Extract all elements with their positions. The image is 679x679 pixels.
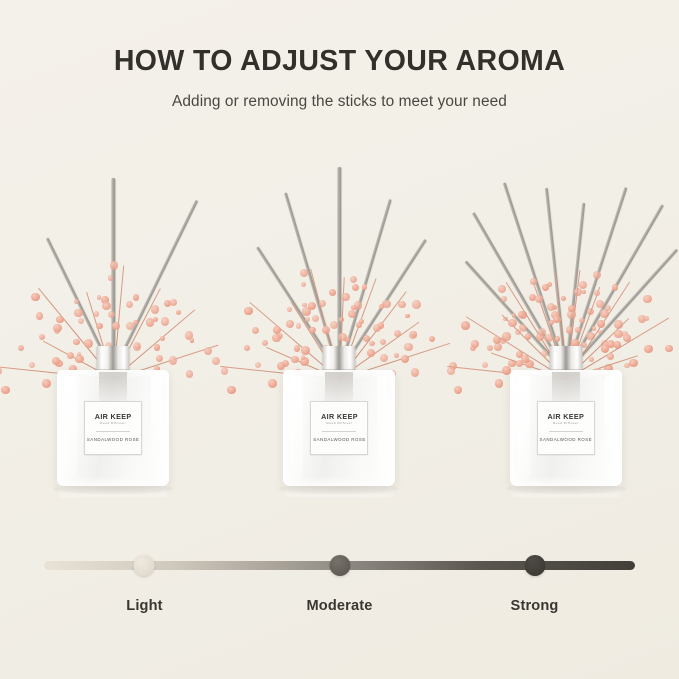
flower-bloom bbox=[255, 362, 261, 368]
flower-bloom bbox=[262, 340, 268, 346]
flower-bloom bbox=[553, 316, 560, 323]
diffuser-bottle-moderate: AIR KEEP Reed Diffuser SANDALWOOD ROSE bbox=[283, 370, 395, 486]
slider-label-strong: Strong bbox=[511, 598, 559, 614]
flower-bloom bbox=[56, 316, 64, 324]
flower-bloom bbox=[494, 343, 502, 351]
flower-bloom bbox=[133, 342, 142, 351]
flower-bloom bbox=[429, 336, 435, 342]
flower-bloom bbox=[291, 356, 299, 364]
flower-bloom bbox=[508, 319, 517, 328]
flower-bloom bbox=[379, 304, 384, 309]
flower-bloom bbox=[518, 311, 525, 318]
flower-bloom bbox=[273, 326, 281, 334]
slider-knob-light[interactable] bbox=[134, 555, 155, 576]
product-light: AIR KEEP Reed Diffuser SANDALWOOD ROSE bbox=[6, 150, 221, 520]
flower-bloom bbox=[29, 362, 35, 368]
flower-bloom bbox=[300, 269, 308, 277]
flower-bloom bbox=[31, 293, 40, 302]
flower-bloom bbox=[96, 323, 103, 330]
flower-bloom bbox=[411, 368, 419, 376]
flower-bloom bbox=[589, 357, 594, 362]
slider-label-moderate: Moderate bbox=[306, 598, 372, 614]
flower-bloom bbox=[296, 323, 302, 329]
flower-bloom bbox=[380, 339, 386, 345]
flower-bloom bbox=[665, 345, 673, 353]
flower-bloom bbox=[39, 334, 45, 340]
flower-bloom bbox=[356, 322, 363, 329]
flower-bloom bbox=[501, 296, 506, 301]
slider-label-light: Light bbox=[126, 598, 162, 614]
flower-bloom bbox=[502, 332, 510, 340]
flower-bloom bbox=[607, 353, 613, 359]
flower-bloom bbox=[329, 289, 336, 296]
flower-bloom bbox=[541, 350, 548, 357]
flower-bloom bbox=[305, 317, 311, 323]
flower-bloom bbox=[561, 296, 566, 301]
flower-bloom bbox=[398, 301, 406, 309]
flower-bloom bbox=[268, 379, 276, 387]
flower-bloom bbox=[447, 367, 455, 375]
flower-bloom bbox=[169, 356, 178, 365]
flower-bloom bbox=[74, 309, 82, 317]
flower-bloom bbox=[594, 290, 600, 296]
flower-bloom bbox=[354, 301, 362, 309]
flower-bloom bbox=[623, 334, 631, 342]
flower-bloom bbox=[582, 290, 587, 295]
slider-label-row: Light Moderate Strong bbox=[44, 598, 635, 622]
flower-bloom bbox=[0, 367, 2, 375]
label-tagline: Reed Diffuser bbox=[100, 422, 126, 425]
flower-bloom bbox=[53, 324, 61, 332]
bottle-collar-icon bbox=[549, 346, 582, 373]
bottle-label: AIR KEEP Reed Diffuser SANDALWOOD ROSE bbox=[537, 401, 595, 455]
flower-bloom bbox=[596, 300, 603, 307]
flower-bloom bbox=[160, 336, 165, 341]
flower-bloom bbox=[212, 357, 220, 365]
flower-bloom bbox=[350, 276, 357, 283]
flower-bloom bbox=[629, 359, 637, 367]
flower-bloom bbox=[394, 353, 398, 357]
flower-bloom bbox=[380, 354, 388, 362]
flower-bloom bbox=[170, 299, 177, 306]
flower-bloom bbox=[338, 333, 347, 342]
flower-bloom bbox=[348, 310, 356, 318]
flower-bloom bbox=[190, 338, 195, 343]
flower-bloom bbox=[161, 317, 169, 325]
flower-bloom bbox=[272, 334, 280, 342]
flower-bloom bbox=[112, 322, 120, 330]
flower-bloom bbox=[73, 339, 79, 345]
label-tagline: Reed Diffuser bbox=[326, 422, 352, 425]
flower-bloom bbox=[312, 315, 319, 322]
flower-bloom bbox=[244, 345, 250, 351]
reed-arrangement-moderate bbox=[232, 163, 447, 373]
flower-bloom bbox=[97, 295, 102, 300]
diffuser-bottle-light: AIR KEEP Reed Diffuser SANDALWOOD ROSE bbox=[57, 370, 169, 486]
flower-bloom bbox=[378, 322, 384, 328]
slider-knob-moderate[interactable] bbox=[329, 555, 350, 576]
flower-bloom bbox=[568, 305, 574, 311]
label-brand: AIR KEEP bbox=[321, 413, 358, 420]
flower-bloom bbox=[579, 281, 587, 289]
flower-bloom bbox=[593, 271, 601, 279]
bottle-label: AIR KEEP Reed Diffuser SANDALWOOD ROSE bbox=[310, 401, 368, 455]
flower-bloom bbox=[156, 355, 163, 362]
flower-bloom bbox=[42, 379, 50, 387]
product-row: AIR KEEP Reed Diffuser SANDALWOOD ROSE bbox=[0, 150, 679, 520]
flower-bloom bbox=[547, 282, 552, 287]
flower-bloom bbox=[176, 310, 181, 315]
flower-bloom bbox=[412, 300, 420, 308]
flower-bloom bbox=[461, 321, 470, 330]
product-strong: AIR KEEP Reed Diffuser SANDALWOOD ROSE bbox=[458, 150, 673, 520]
flower-bloom bbox=[341, 293, 350, 302]
diffuser-bottle-strong: AIR KEEP Reed Diffuser SANDALWOOD ROSE bbox=[510, 370, 622, 486]
infographic-canvas: HOW TO ADJUST YOUR AROMA Adding or remov… bbox=[0, 0, 679, 679]
flower-bloom bbox=[525, 333, 532, 340]
flower-bloom bbox=[301, 355, 305, 359]
flower-bloom bbox=[74, 299, 79, 304]
flower-bloom bbox=[252, 327, 259, 334]
flower-bloom bbox=[592, 326, 596, 330]
flower-bloom bbox=[18, 345, 24, 351]
flower-bloom bbox=[94, 311, 100, 317]
flower-bloom bbox=[644, 345, 652, 353]
flower-bloom bbox=[36, 312, 43, 319]
flower-bloom bbox=[555, 336, 560, 341]
flower-bloom bbox=[487, 345, 493, 351]
page-subtitle: Adding or removing the sticks to meet yo… bbox=[0, 93, 679, 111]
flower-bloom bbox=[309, 327, 316, 334]
flower-bloom bbox=[579, 318, 585, 324]
label-brand: AIR KEEP bbox=[547, 413, 584, 420]
header: HOW TO ADJUST YOUR AROMA Adding or remov… bbox=[0, 46, 679, 111]
flower-bloom bbox=[567, 310, 576, 319]
flower-bloom bbox=[493, 336, 501, 344]
label-brand: AIR KEEP bbox=[95, 413, 132, 420]
flower-bloom bbox=[221, 367, 229, 375]
intensity-slider[interactable] bbox=[44, 556, 635, 576]
flower-bloom bbox=[362, 284, 367, 289]
flower-bloom bbox=[597, 320, 605, 328]
flower-bloom bbox=[287, 307, 292, 312]
flower-bloom bbox=[204, 347, 212, 355]
flower-bloom bbox=[382, 300, 390, 308]
flower-bloom bbox=[153, 317, 158, 322]
flower-bloom bbox=[133, 294, 140, 301]
label-scent: SANDALWOOD ROSE bbox=[87, 437, 140, 443]
label-scent: SANDALWOOD ROSE bbox=[540, 437, 593, 443]
flower-bloom bbox=[301, 346, 310, 355]
flower-bloom bbox=[544, 334, 553, 343]
flower-bloom bbox=[108, 275, 113, 280]
flower-bloom bbox=[186, 370, 193, 377]
flower-bloom bbox=[401, 355, 409, 363]
flower-bloom bbox=[482, 362, 488, 368]
flower-bloom bbox=[612, 284, 618, 290]
flower-bloom bbox=[319, 300, 326, 307]
flower-bloom bbox=[471, 340, 478, 347]
bottle-label: AIR KEEP Reed Diffuser SANDALWOOD ROSE bbox=[84, 401, 142, 455]
flower-bloom bbox=[404, 343, 413, 352]
flower-bloom bbox=[154, 344, 161, 351]
flower-bloom bbox=[644, 316, 648, 320]
flower-bloom bbox=[227, 386, 236, 395]
flower-bloom bbox=[151, 305, 160, 314]
flower-bloom bbox=[454, 386, 463, 395]
label-scent: SANDALWOOD ROSE bbox=[313, 437, 366, 443]
flower-bloom bbox=[1, 386, 10, 395]
label-divider bbox=[322, 431, 356, 432]
label-tagline: Reed Diffuser bbox=[553, 422, 579, 425]
flower-bloom bbox=[84, 339, 93, 348]
bottle-collar-icon bbox=[97, 346, 130, 373]
flower-bloom bbox=[352, 284, 359, 291]
flower-bloom bbox=[126, 301, 133, 308]
flower-bloom bbox=[405, 314, 410, 319]
flower-bloom bbox=[302, 307, 311, 316]
flower-bloom bbox=[495, 379, 503, 387]
flower-bloom bbox=[608, 341, 614, 347]
bottle-collar-icon bbox=[323, 346, 356, 373]
label-divider bbox=[549, 431, 583, 432]
flower-bloom bbox=[102, 302, 111, 311]
flower-bloom bbox=[643, 295, 652, 304]
reed-arrangement-strong bbox=[458, 163, 673, 373]
product-moderate: AIR KEEP Reed Diffuser SANDALWOOD ROSE bbox=[232, 150, 447, 520]
flower-bloom bbox=[367, 349, 375, 357]
label-divider bbox=[96, 431, 130, 432]
flower-bloom bbox=[286, 320, 294, 328]
flower-bloom bbox=[244, 307, 253, 316]
flower-bloom bbox=[369, 341, 375, 347]
flower-bloom bbox=[575, 327, 581, 333]
flower-bloom bbox=[322, 326, 330, 334]
flower-bloom bbox=[498, 285, 506, 293]
slider-knob-strong[interactable] bbox=[524, 555, 545, 576]
flower-bloom bbox=[78, 318, 84, 324]
reed-arrangement-light bbox=[6, 163, 221, 373]
flower-bloom bbox=[301, 282, 306, 287]
flower-bloom bbox=[110, 261, 118, 269]
flower-bloom bbox=[294, 345, 300, 351]
page-title: HOW TO ADJUST YOUR AROMA bbox=[0, 46, 679, 77]
